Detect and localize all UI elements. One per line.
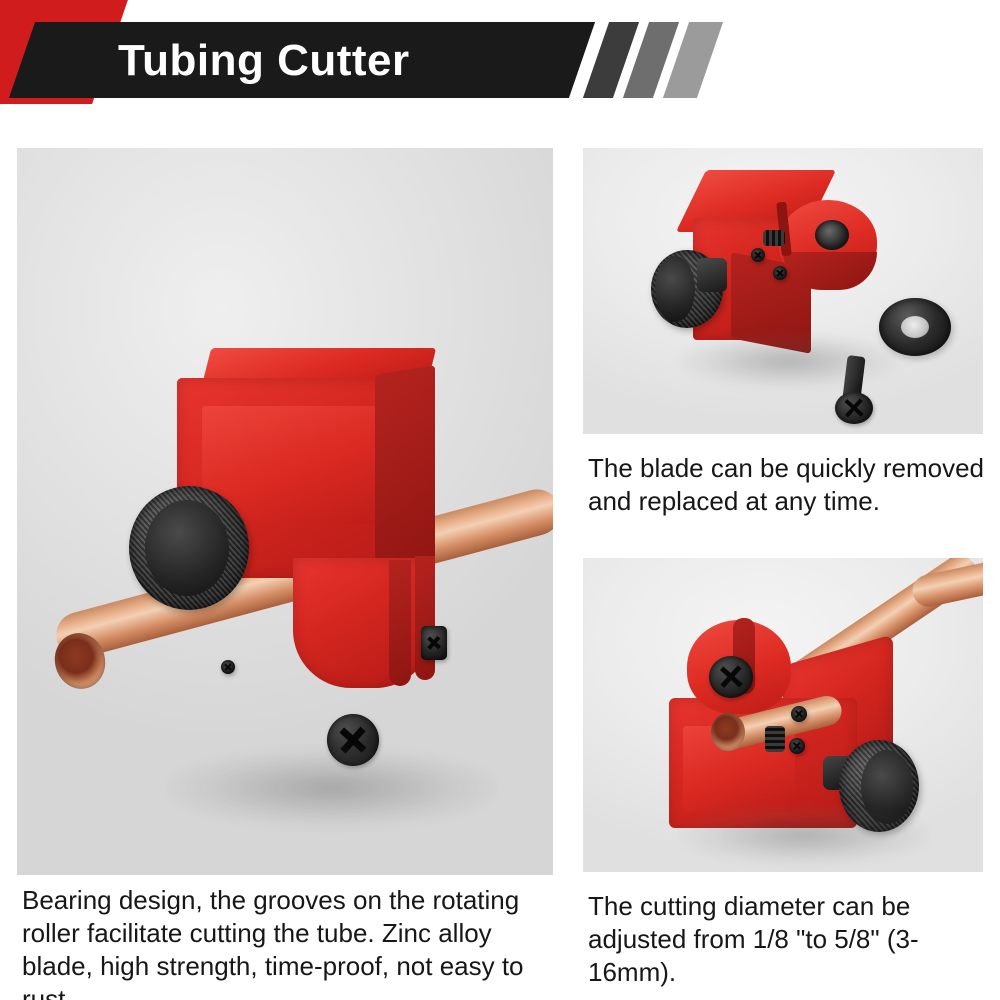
cutting-diameter-caption: The cutting diameter can be adjusted fro… xyxy=(588,890,984,989)
body-pin-upper xyxy=(791,706,807,722)
main-caption: Bearing design, the grooves on the rotat… xyxy=(22,884,542,1000)
adjustment-knob-face xyxy=(145,500,229,596)
product-shadow xyxy=(679,806,929,864)
infographic-page: Tubing Cutter xyxy=(0,0,1000,1000)
main-product-photo xyxy=(17,148,553,875)
cutter-roller-groove-second xyxy=(415,556,435,680)
product-shadow xyxy=(679,334,899,388)
blade-removal-photo xyxy=(583,148,983,434)
knob-shaft xyxy=(697,258,727,292)
spring-screw xyxy=(765,726,785,752)
body-pin-lower xyxy=(789,738,805,754)
body-pin-lower xyxy=(773,266,787,280)
body-pin-upper xyxy=(751,248,765,262)
header-banner: Tubing Cutter xyxy=(0,0,1000,118)
cutter-roller-groove xyxy=(389,560,411,686)
body-pin-upper xyxy=(221,660,235,674)
blade-screw xyxy=(709,656,753,698)
product-shadow xyxy=(167,748,497,828)
cutting-diameter-photo xyxy=(583,558,983,872)
adjustment-knob-face xyxy=(655,256,695,322)
spring-screw xyxy=(763,230,785,246)
cutter-jaw-bore-hole xyxy=(815,220,849,250)
blade-removal-caption: The blade can be quickly removed and rep… xyxy=(588,452,988,518)
set-screw-threaded xyxy=(421,626,447,660)
copper-tube-open-end xyxy=(711,713,745,751)
page-title: Tubing Cutter xyxy=(118,30,588,92)
cutting-wheel-center-hole xyxy=(901,316,929,338)
cutter-roller-housing xyxy=(293,558,433,688)
blade-screw-head xyxy=(835,392,873,424)
